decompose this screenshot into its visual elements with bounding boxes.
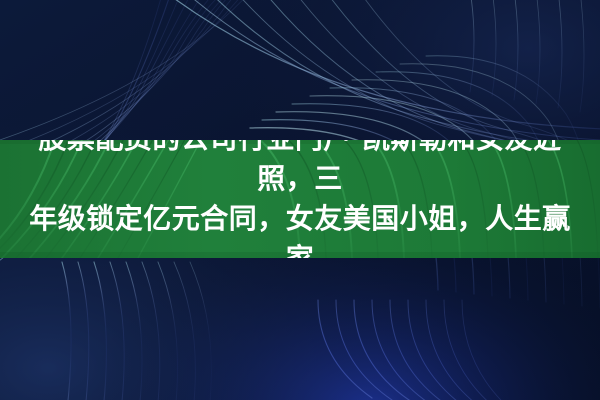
green-title-band: 股票配资的公司行业门户 凯斯勒和女友近照，三 年级锁定亿元合同，女友美国小姐，人… <box>0 140 600 258</box>
banner-headline: 股票配资的公司行业门户 凯斯勒和女友近照，三 年级锁定亿元合同，女友美国小姐，人… <box>10 140 590 258</box>
headline-line-1: 股票配资的公司行业门户 凯斯勒和女友近照，三 <box>18 140 582 199</box>
screenshot-canvas: 股票配资的公司行业门户 凯斯勒和女友近照，三 年级锁定亿元合同，女友美国小姐，人… <box>0 0 600 400</box>
headline-line-2: 年级锁定亿元合同，女友美国小姐，人生赢家 <box>18 199 582 258</box>
